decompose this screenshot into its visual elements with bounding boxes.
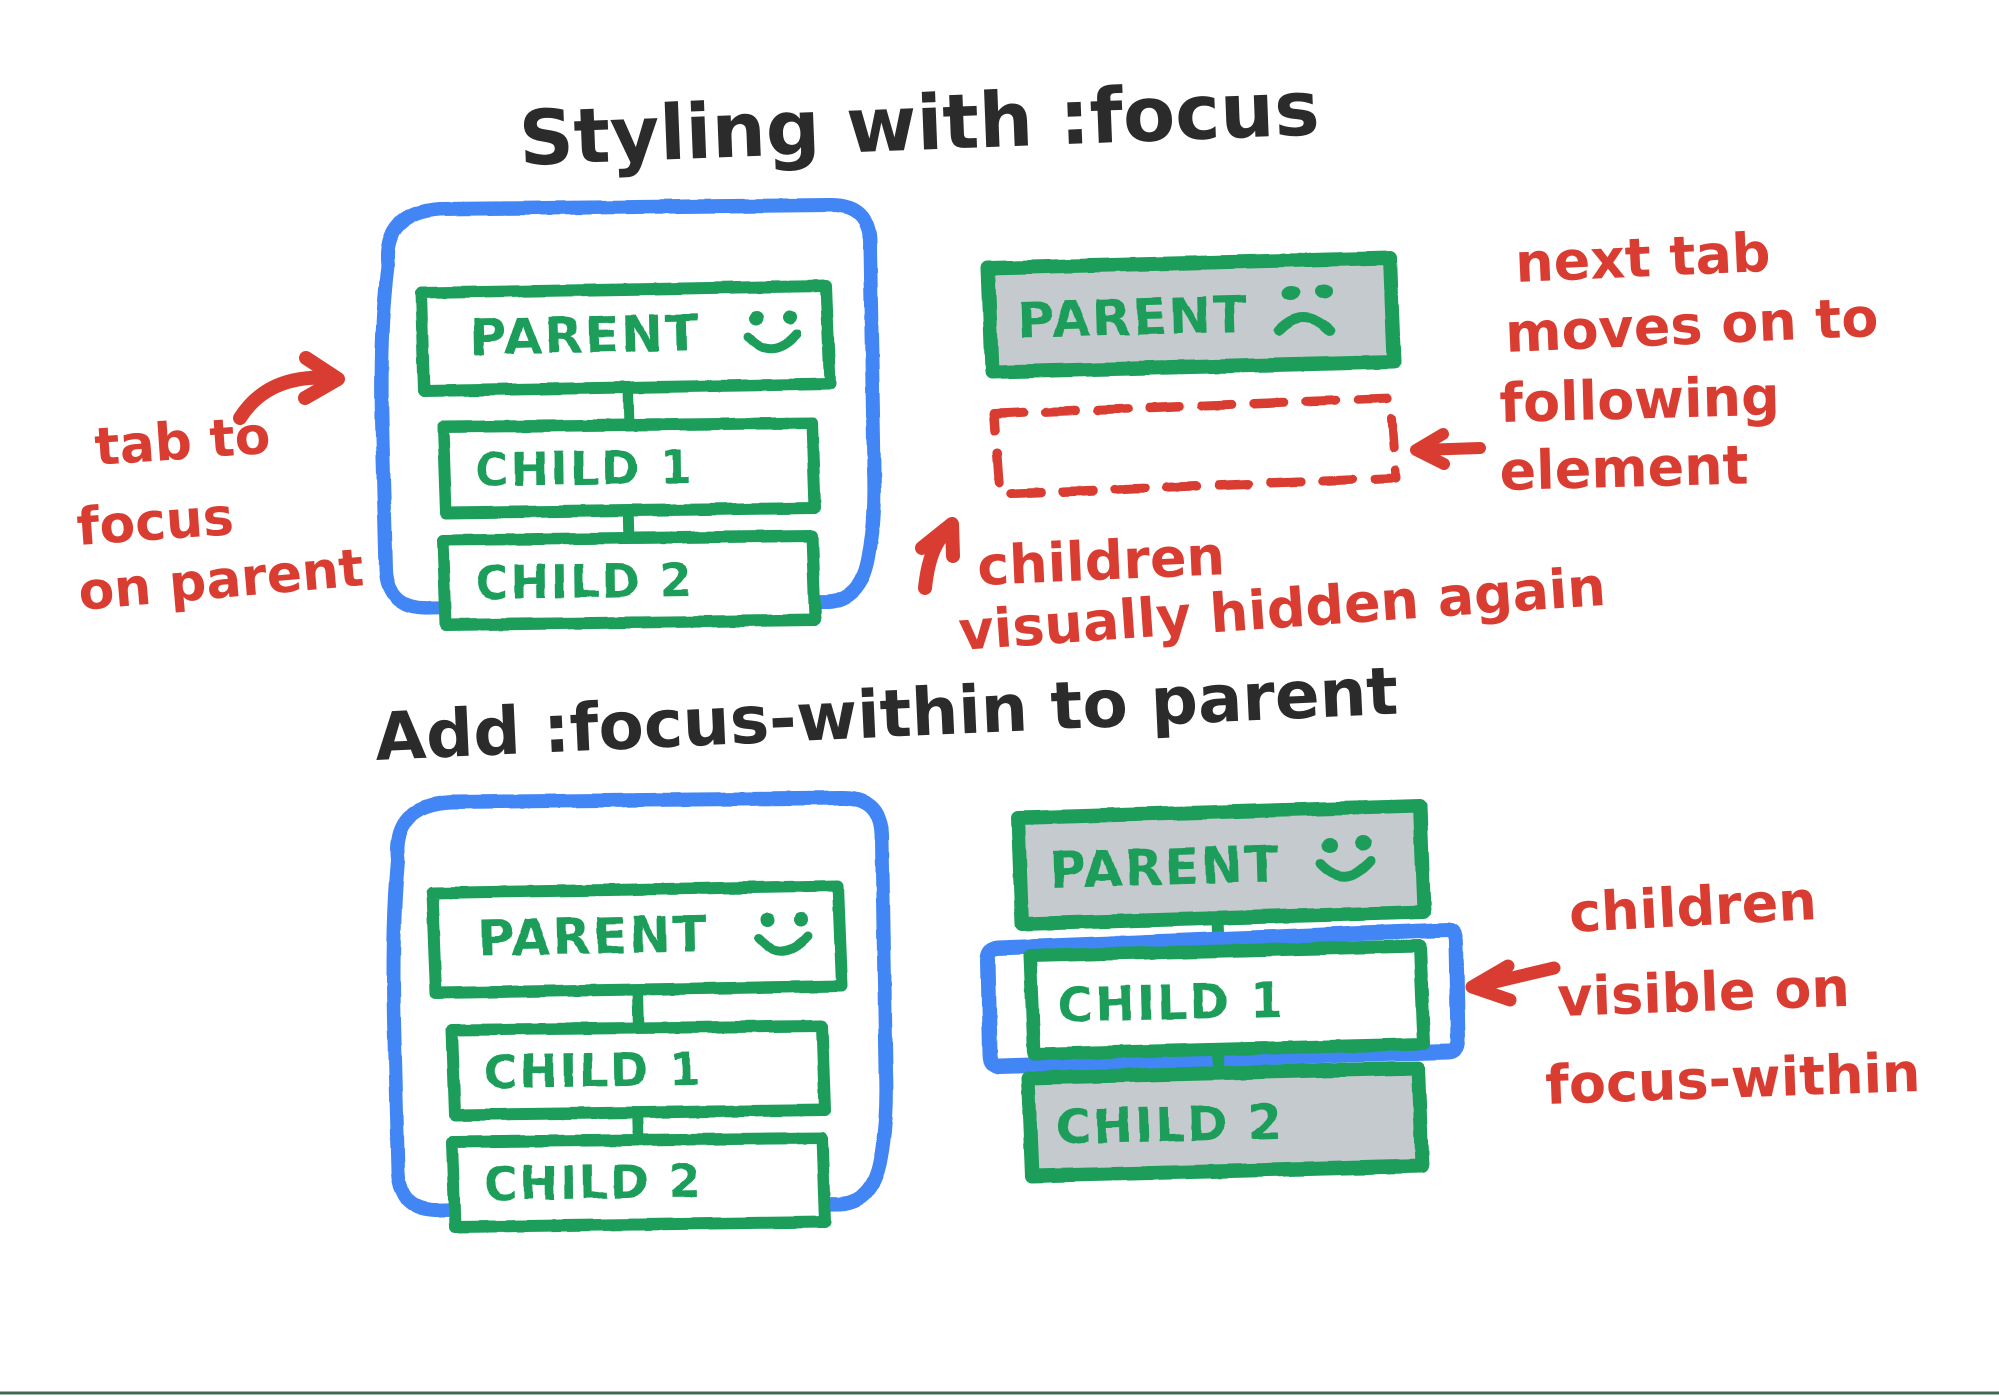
box-parent-3-label: PARENT [1049,835,1282,900]
box-child-1-label: CHILD 1 [474,440,694,497]
whiteboard-canvas: Styling with :focus PARENT [0,0,1999,1397]
annotation-tab-to-focus-on-parent: tab to focus on parent [75,358,366,623]
box-child-1-3-label: CHILD 1 [1057,972,1286,1034]
box-child-1-2-label: CHILD 1 [483,1042,703,1099]
box-child-2-label: CHILD 2 [474,553,694,610]
box-parent-3[interactable]: PARENT [1018,806,1424,924]
box-child-1-2[interactable]: CHILD 1 [452,1026,825,1115]
annotation-next-tab-line-2: moves on to [1504,286,1880,365]
annotation-next-tab-line-1: next tab [1514,221,1772,295]
annotation-visible-line-1: children [1567,869,1818,945]
annotation-visible-line-3: focus-within [1544,1041,1921,1117]
section-subtitle: Add :focus-within to parent [373,653,1399,776]
diagram-bottom-right: PARENT CHILD 1 CHILD 2 [988,806,1458,1176]
diagram-top-right: PARENT [988,258,1396,494]
box-parent-blurred[interactable]: PARENT [988,258,1394,372]
annotation-next-tab-line-3: following [1499,365,1781,435]
diagram-bottom-left: PARENT CHILD 1 CHILD 2 [394,790,887,1227]
annotation-children-visible-focus-within: children visible on focus-within [1472,869,1921,1117]
annotation-visible-line-2: visible on [1556,956,1851,1029]
annotation-tab-line-1: tab to [93,406,273,478]
box-parent[interactable]: PARENT [421,286,830,391]
annotation-children-visually-hidden: children visually hidden again [922,524,1608,663]
box-child-2-3-label: CHILD 2 [1055,1094,1284,1156]
hidden-children-placeholder [994,398,1396,494]
page-title-text: Styling with :focus [517,63,1321,183]
box-parent-blurred-label: PARENT [1017,286,1250,350]
annotation-next-tab-line-4: element [1499,434,1749,503]
page-title: Styling with :focus [517,63,1321,183]
box-parent-label: PARENT [469,304,702,367]
diagram-top-left: PARENT CHILD 1 CHILD 2 [382,205,875,625]
section-subtitle-text: Add :focus-within to parent [373,653,1399,776]
box-child-2-2[interactable]: CHILD 2 [452,1138,825,1227]
box-parent-2[interactable]: PARENT [432,886,842,993]
box-parent-2-label: PARENT [477,905,710,968]
box-child-2-2-label: CHILD 2 [483,1154,703,1211]
box-child-1[interactable]: CHILD 1 [443,423,815,513]
annotation-next-tab-moves-on: next tab moves on to following element [1416,221,1880,503]
annotation-tab-line-2: focus [75,487,236,558]
box-child-2[interactable]: CHILD 2 [443,536,815,625]
box-child-2-3[interactable]: CHILD 2 [1028,1068,1422,1176]
box-child-1-3[interactable]: CHILD 1 [1030,946,1424,1054]
diagram-svg: Styling with :focus PARENT [0,0,1999,1397]
